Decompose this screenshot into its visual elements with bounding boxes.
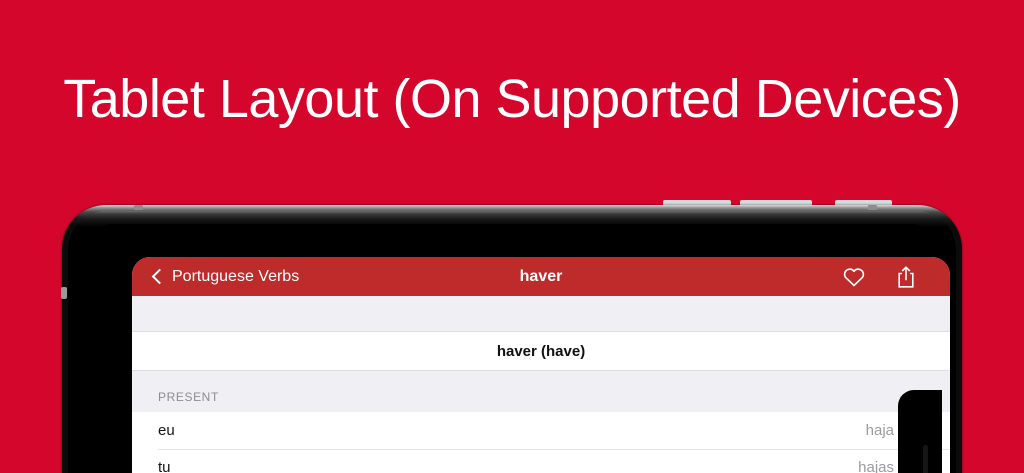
antenna-nub-right [868, 205, 877, 210]
chevron-left-icon [152, 268, 168, 284]
row-conjugation: haja [866, 422, 894, 439]
device-rim: Portuguese Verbs haver [62, 205, 962, 473]
table-top-spacer [132, 296, 950, 331]
device-mockup: Portuguese Verbs haver [62, 205, 962, 473]
verb-title: haver (have) [497, 343, 585, 360]
section-header-label: PRESENT [158, 390, 219, 404]
row-pronoun: eu [158, 422, 175, 439]
antenna-nub-left [134, 205, 143, 210]
favorite-button[interactable] [842, 266, 866, 288]
table-row[interactable]: eu haja [132, 412, 950, 449]
back-button-label: Portuguese Verbs [172, 268, 299, 286]
navbar-actions [842, 265, 916, 289]
device-right-cutout-line [923, 445, 928, 473]
section-header-present: PRESENT [132, 371, 950, 412]
device-body: Portuguese Verbs haver [82, 224, 942, 473]
row-conjugation: hajas [858, 459, 894, 473]
row-pronoun: tu [158, 459, 171, 473]
page-title: Tablet Layout (On Supported Devices) [0, 64, 1024, 134]
app-navbar: Portuguese Verbs haver [132, 257, 950, 296]
volume-button[interactable] [61, 287, 67, 299]
device-screen: Portuguese Verbs haver [132, 257, 950, 473]
verb-title-card: haver (have) [132, 331, 950, 371]
back-button[interactable]: Portuguese Verbs [154, 268, 299, 286]
device-bezel: Portuguese Verbs haver [68, 211, 956, 473]
device-right-cutout [898, 390, 942, 473]
share-button[interactable] [896, 265, 916, 289]
table-row[interactable]: tu hajas [132, 449, 950, 473]
